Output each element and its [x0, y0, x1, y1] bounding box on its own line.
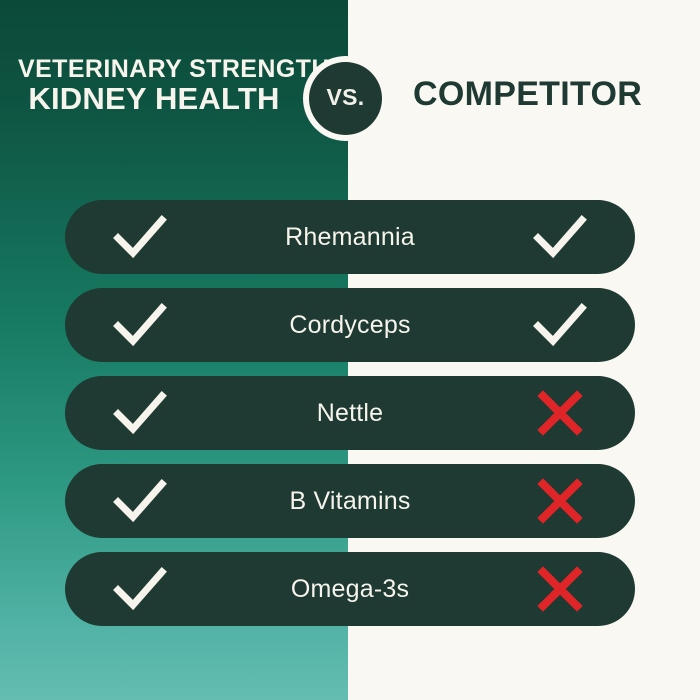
left-title-line-2: KIDNEY HEALTH	[18, 82, 290, 117]
comparison-graphic: VETERINARY STRENGTH KIDNEY HEALTH VS. CO…	[0, 0, 700, 700]
ingredient-label: B Vitamins	[215, 487, 485, 516]
vs-label: VS.	[327, 86, 365, 109]
ours-check-icon	[65, 389, 215, 437]
competitor-cross-icon	[485, 478, 635, 524]
ours-check-icon	[65, 213, 215, 261]
ingredient-label: Nettle	[215, 399, 485, 428]
left-product-title: VETERINARY STRENGTH KIDNEY HEALTH	[18, 56, 290, 117]
competitor-cross-icon	[485, 390, 635, 436]
ingredient-label: Omega-3s	[215, 575, 485, 604]
comparison-rows: RhemanniaCordycepsNettleB VitaminsOmega-…	[65, 200, 635, 626]
table-row: B Vitamins	[65, 464, 635, 538]
ingredient-label: Cordyceps	[215, 311, 485, 340]
header: VETERINARY STRENGTH KIDNEY HEALTH VS. CO…	[0, 0, 700, 196]
ingredient-label: Rhemannia	[215, 223, 485, 252]
competitor-cross-icon	[485, 566, 635, 612]
vs-badge: VS.	[309, 62, 382, 135]
left-title-line-1: VETERINARY STRENGTH	[18, 56, 290, 82]
competitor-title: COMPETITOR	[413, 75, 642, 114]
ours-check-icon	[65, 565, 215, 613]
table-row: Rhemannia	[65, 200, 635, 274]
ours-check-icon	[65, 477, 215, 525]
ours-check-icon	[65, 301, 215, 349]
table-row: Omega-3s	[65, 552, 635, 626]
table-row: Cordyceps	[65, 288, 635, 362]
table-row: Nettle	[65, 376, 635, 450]
competitor-check-icon	[485, 213, 635, 261]
competitor-check-icon	[485, 301, 635, 349]
